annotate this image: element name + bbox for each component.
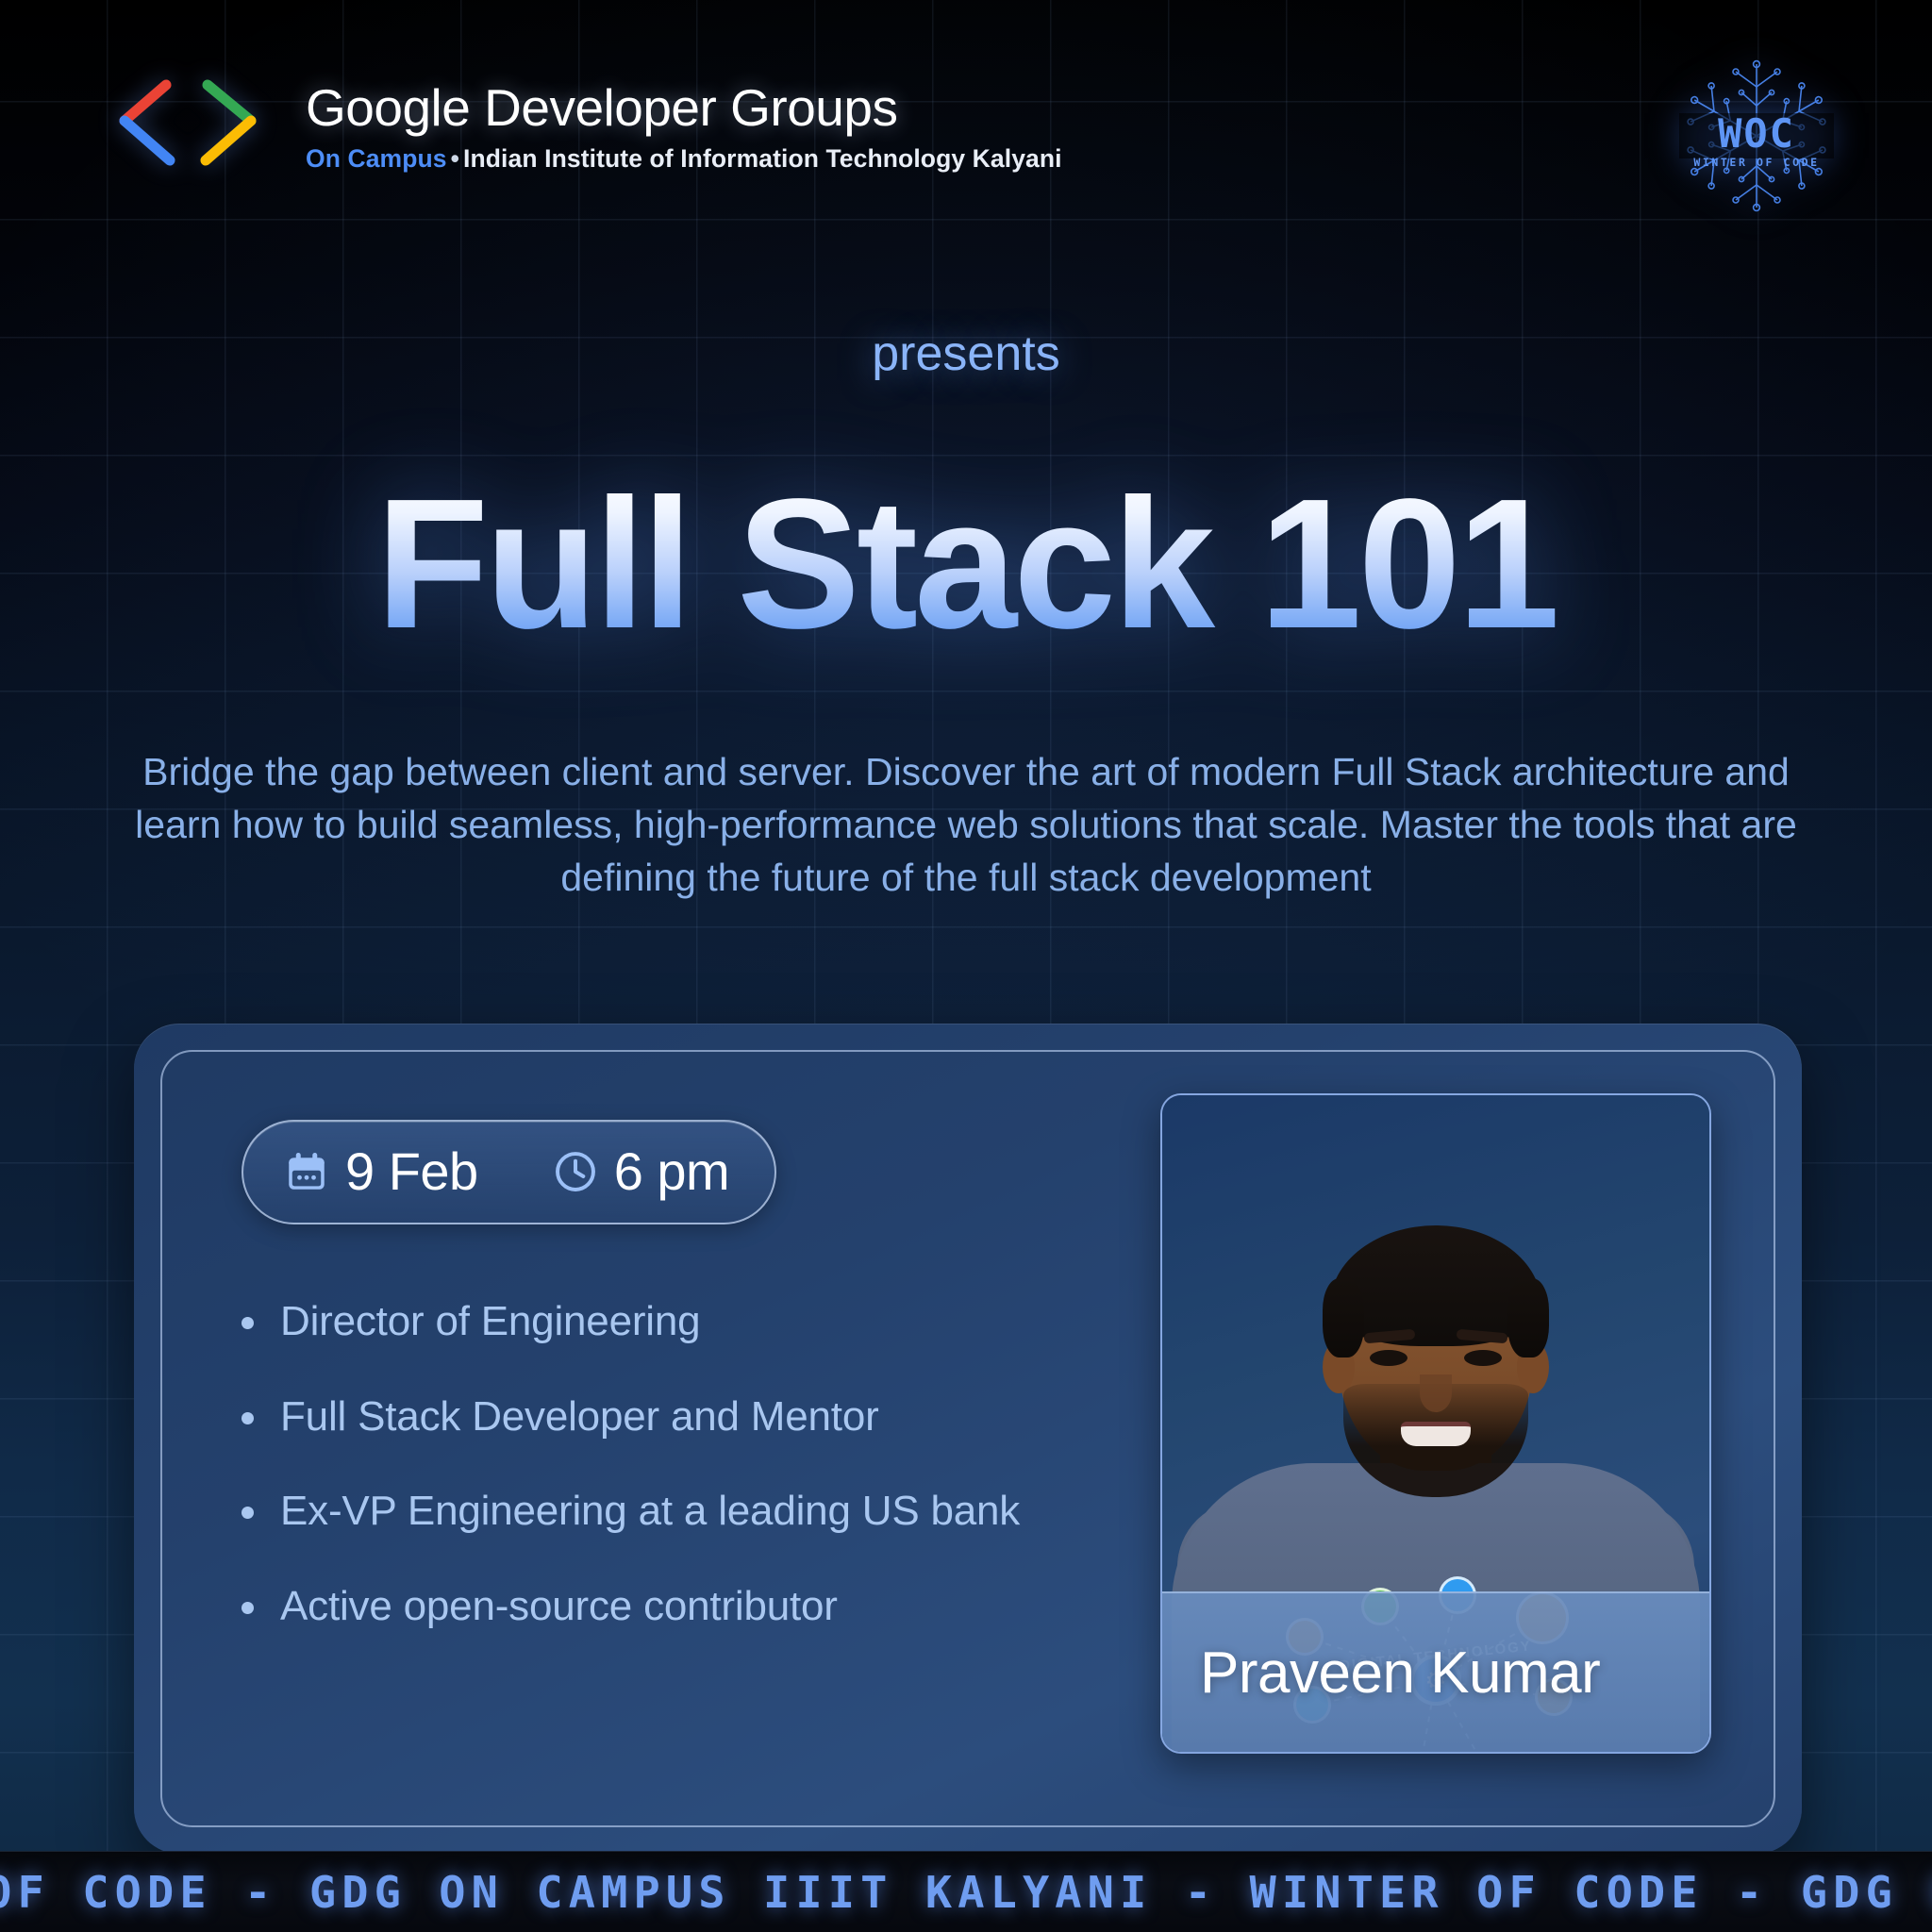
eye-right (1464, 1350, 1502, 1366)
eye-left (1370, 1350, 1407, 1366)
details-right-column: DIGITAL TECHNOLOGY ⚙ Praveen Kumar (1207, 1052, 1774, 1825)
brand-text-block: Google Developer Groups On Campus•Indian… (306, 68, 1062, 174)
speaker-photo-frame: DIGITAL TECHNOLOGY ⚙ Praveen Kumar (1160, 1093, 1711, 1754)
date-segment: 9 Feb (283, 1141, 478, 1202)
list-item: Director of Engineering (241, 1298, 1207, 1346)
details-card-inner-border: 9 Feb 6 pm (160, 1050, 1775, 1827)
presents-label: presents (0, 325, 1932, 382)
clock-icon (552, 1148, 599, 1195)
list-item: Full Stack Developer and Mentor (241, 1393, 1207, 1441)
schedule-pill: 9 Feb 6 pm (241, 1120, 776, 1224)
credential-text: Director of Engineering (280, 1298, 700, 1346)
bullet-dot-icon (241, 1507, 254, 1519)
event-poster: Google Developer Groups On Campus•Indian… (0, 0, 1932, 1932)
hair (1330, 1225, 1541, 1346)
time-segment: 6 pm (552, 1141, 730, 1202)
bullet-dot-icon (241, 1317, 254, 1329)
poster-header: Google Developer Groups On Campus•Indian… (0, 68, 1932, 200)
bullet-dot-icon (241, 1412, 254, 1424)
list-item: Active open-source contributor (241, 1583, 1207, 1631)
event-description: Bridge the gap between client and server… (121, 745, 1811, 904)
speaker-photo: DIGITAL TECHNOLOGY ⚙ Praveen Kumar (1162, 1095, 1709, 1752)
credential-text: Full Stack Developer and Mentor (280, 1393, 879, 1441)
nose (1420, 1374, 1452, 1412)
details-card: 9 Feb 6 pm (134, 1024, 1802, 1854)
details-left-column: 9 Feb 6 pm (162, 1052, 1207, 1825)
gdg-brand: Google Developer Groups On Campus•Indian… (104, 68, 1062, 177)
brand-title: Google Developer Groups (306, 81, 1062, 136)
bullet-dot-icon (241, 1602, 254, 1614)
credential-text: Ex-VP Engineering at a leading US bank (280, 1488, 1020, 1536)
woc-abbr-text: WOC (1718, 110, 1795, 157)
winter-of-code-logo: WOC WINTER OF CODE (1672, 51, 1841, 221)
ticker-text: OF CODE - GDG ON CAMPUS IIIT KALYANI - W… (0, 1867, 1932, 1918)
event-date: 9 Feb (345, 1141, 478, 1202)
list-item: Ex-VP Engineering at a leading US bank (241, 1488, 1207, 1536)
details-card-body: 9 Feb 6 pm (162, 1052, 1774, 1825)
bottom-ticker: OF CODE - GDG ON CAMPUS IIIT KALYANI - W… (0, 1851, 1932, 1932)
mouth (1401, 1422, 1471, 1446)
speaker-credentials-list: Director of Engineering Full Stack Devel… (241, 1298, 1207, 1630)
brand-separator-dot: • (447, 144, 463, 173)
brand-oncampus-label: On Campus (306, 144, 447, 173)
gdg-chevron-logo (104, 68, 274, 177)
speaker-name: Praveen Kumar (1200, 1640, 1600, 1707)
speaker-portrait: DIGITAL TECHNOLOGY ⚙ (1162, 1131, 1709, 1671)
event-time: 6 pm (614, 1141, 730, 1202)
brand-subtitle: On Campus•Indian Institute of Informatio… (306, 144, 1062, 174)
event-title: Full Stack 101 (0, 472, 1932, 657)
brand-institute-label: Indian Institute of Information Technolo… (463, 144, 1062, 173)
credential-text: Active open-source contributor (280, 1583, 838, 1631)
speaker-nameplate: Praveen Kumar (1162, 1591, 1709, 1752)
calendar-icon (283, 1148, 330, 1195)
woc-full-text: WINTER OF CODE (1693, 156, 1819, 169)
